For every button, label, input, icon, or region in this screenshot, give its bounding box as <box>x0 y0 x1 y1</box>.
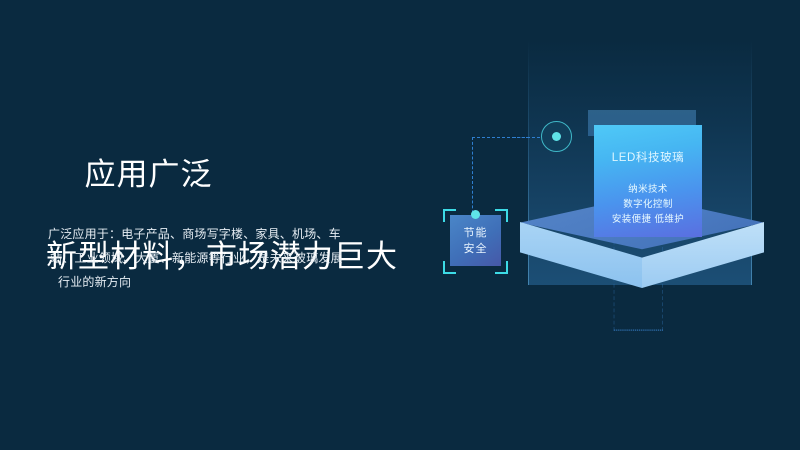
glass-panel-feature-2: 数字化控制 <box>594 197 702 212</box>
glass-panel-front: LED科技玻璃 纳米技术 数字化控制 安装便捷 低维护 <box>594 125 702 237</box>
body-line-2: 站、工业领域、大厦、新能源等行业，是未来玻璃发展 <box>48 246 378 270</box>
body-paragraph: 广泛应用于：电子产品、商场写字楼、家具、机场、车 站、工业领域、大厦、新能源等行… <box>48 222 378 294</box>
glass-panel-feature-3: 安装便捷 低维护 <box>594 212 702 227</box>
glass-panel-feature-1: 纳米技术 <box>594 182 702 197</box>
badge-label-line-1: 节能 <box>464 225 488 241</box>
body-line-1: 广泛应用于：电子产品、商场写字楼、家具、机场、车 <box>48 222 378 246</box>
body-line-3: 行业的新方向 <box>48 270 378 294</box>
connector-line-stub <box>513 137 529 138</box>
feature-badge[interactable]: 节能 安全 <box>443 209 508 274</box>
badge-anchor-dot-icon <box>471 210 480 219</box>
connector-line-horizontal <box>472 137 540 138</box>
node-center-dot-icon <box>552 132 561 141</box>
headline-line-1: 应用广泛 <box>84 157 212 192</box>
glass-panel-title: LED科技玻璃 <box>594 149 702 165</box>
badge-label-line-2: 安全 <box>464 241 488 257</box>
badge-box: 节能 安全 <box>450 215 501 266</box>
glass-panel-feature-list: 纳米技术 数字化控制 安装便捷 低维护 <box>594 182 702 227</box>
presentation-slide: 应用广泛 新型材料，市场潜力巨大 广泛应用于：电子产品、商场写字楼、家具、机场、… <box>0 0 800 450</box>
